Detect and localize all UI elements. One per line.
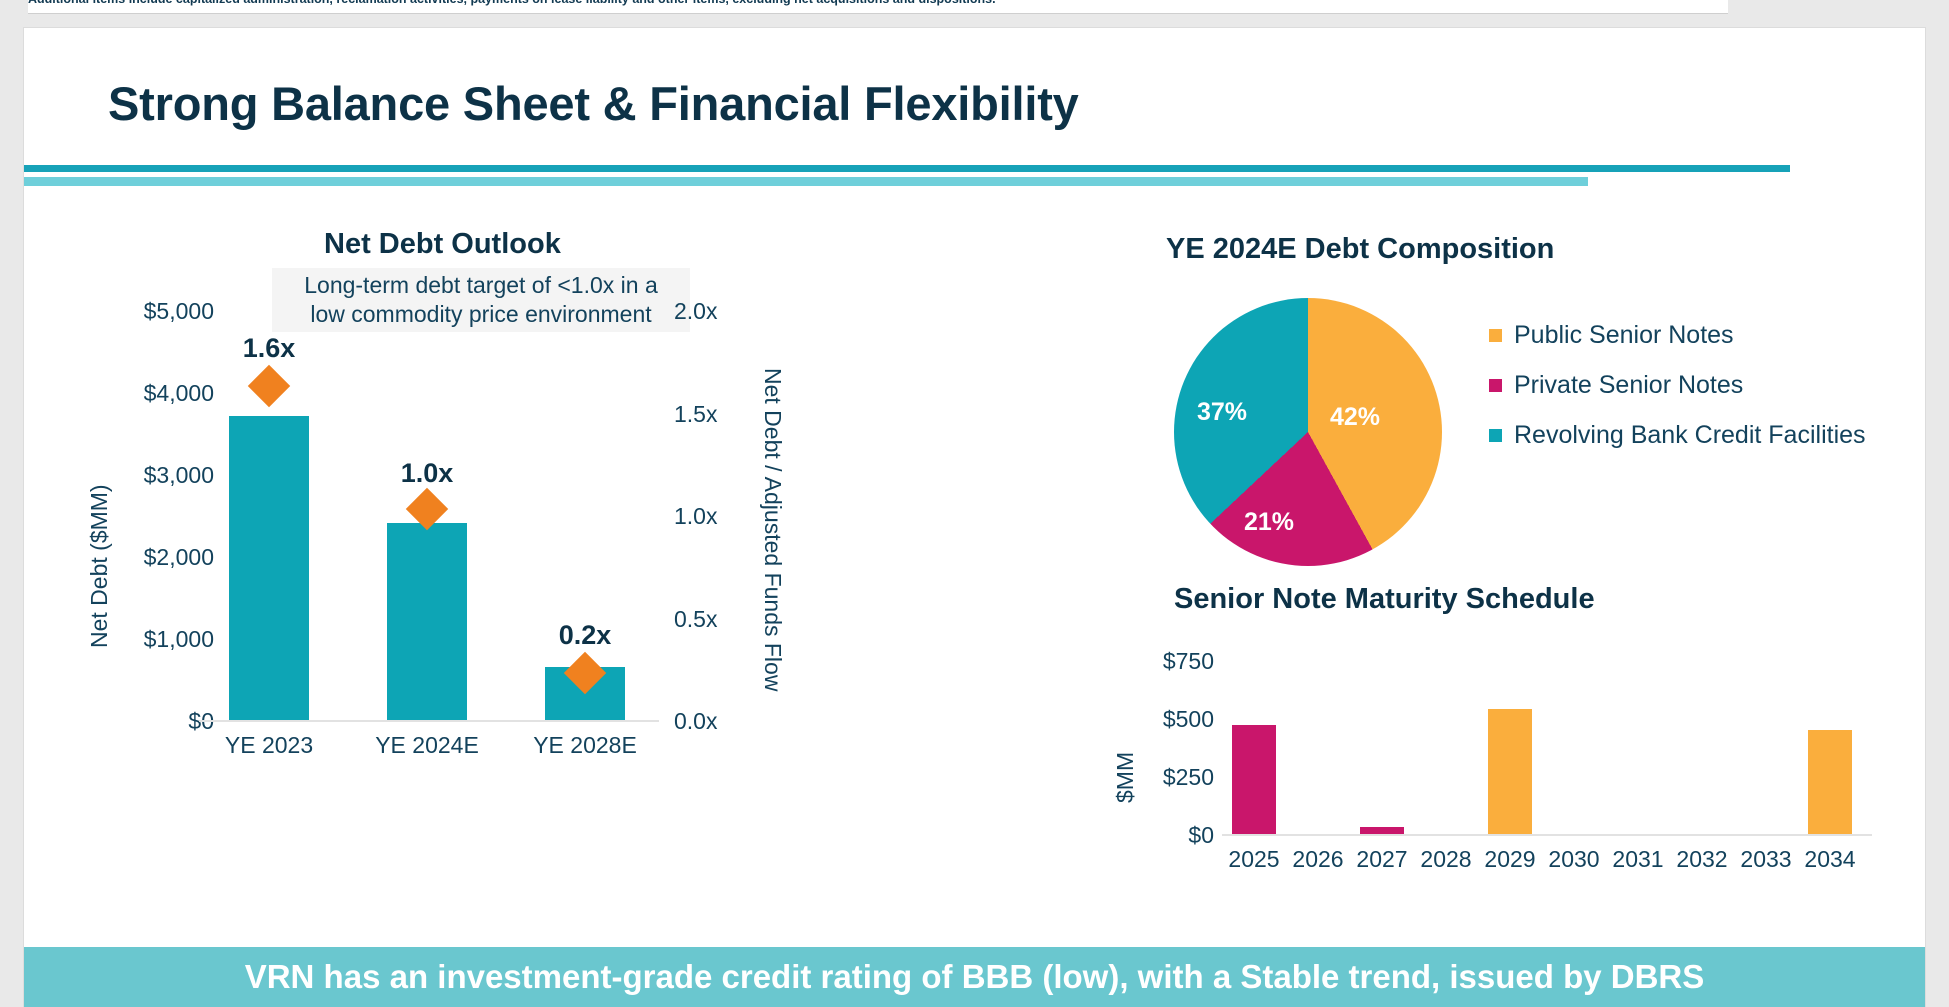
legend-swatch-icon-revolver	[1489, 429, 1502, 442]
maturity-xtick-2029: 2029	[1478, 846, 1542, 873]
maturity-xtick-2031: 2031	[1606, 846, 1670, 873]
maturity-ytick-0: $0	[1124, 822, 1214, 849]
maturity-ytick-500: $500	[1124, 706, 1214, 733]
maturity-bar-2029	[1488, 709, 1532, 834]
net-debt-baseline	[199, 720, 659, 722]
legend-label-private-senior-notes: Private Senior Notes	[1514, 371, 1743, 400]
legend-swatch-icon-private	[1489, 379, 1502, 392]
legend-label-revolving-bank-credit-facilities: Revolving Bank Credit Facilities	[1514, 421, 1866, 450]
net-debt-y2-axis-title: Net Debt / Adjusted Funds Flow	[759, 368, 786, 691]
maturity-bar-2034	[1808, 730, 1852, 834]
credit-rating-banner: VRN has an investment-grade credit ratin…	[24, 947, 1925, 1007]
xtick-ye-2028e: YE 2028E	[525, 732, 645, 759]
senior-note-maturity-chart: Senior Note Maturity Schedule $MM $750 $…	[1134, 588, 1925, 938]
legend-item-revolving-bank-credit-facilities: Revolving Bank Credit Facilities	[1489, 421, 1866, 450]
debt-composition-title: YE 2024E Debt Composition	[1166, 233, 1554, 266]
maturity-xtick-2025: 2025	[1222, 846, 1286, 873]
ytick-3000: $3,000	[114, 462, 214, 489]
page-title: Strong Balance Sheet & Financial Flexibi…	[108, 76, 1079, 131]
bar-ye-2023	[229, 416, 309, 720]
ytick-5000: $5,000	[114, 298, 214, 325]
debt-composition-chart: YE 2024E Debt Composition 42% 21% 37% Pu…	[1134, 243, 1925, 563]
net-debt-chart-title: Net Debt Outlook	[324, 228, 561, 261]
ytick-1000: $1,000	[114, 626, 214, 653]
xtick-ye-2024e: YE 2024E	[367, 732, 487, 759]
y2tick-0-5x: 0.5x	[674, 606, 749, 633]
maturity-xtick-2026: 2026	[1286, 846, 1350, 873]
data-label-ye-2028e: 0.2x	[525, 620, 645, 651]
maturity-ytick-750: $750	[1124, 648, 1214, 675]
maturity-baseline	[1222, 834, 1872, 836]
title-rule-primary	[24, 165, 1790, 172]
maturity-bar-2025	[1232, 725, 1276, 834]
data-label-ye-2024e: 1.0x	[367, 458, 487, 489]
maturity-xtick-2027: 2027	[1350, 846, 1414, 873]
net-debt-outlook-chart: Net Debt Outlook Long-term debt target o…	[64, 238, 884, 938]
y2tick-2-0x: 2.0x	[674, 298, 749, 325]
pie-label-revolving-bank-credit-facilities: 37%	[1197, 398, 1247, 427]
maturity-xtick-2030: 2030	[1542, 846, 1606, 873]
footnote-strip: Additional items include capitalized adm…	[28, 0, 1728, 8]
maturity-chart-title: Senior Note Maturity Schedule	[1174, 583, 1595, 616]
net-debt-y-axis-title: Net Debt ($MM)	[86, 484, 113, 648]
legend-label-public-senior-notes: Public Senior Notes	[1514, 321, 1734, 350]
maturity-xtick-2032: 2032	[1670, 846, 1734, 873]
bar-ye-2024e	[387, 523, 467, 720]
ytick-2000: $2,000	[114, 544, 214, 571]
footnote-text: Additional items include capitalized adm…	[28, 0, 1728, 6]
debt-composition-legend: Public Senior Notes Private Senior Notes…	[1489, 321, 1866, 471]
debt-target-callout: Long-term debt target of <1.0x in alow c…	[272, 268, 690, 332]
y2tick-1-0x: 1.0x	[674, 503, 749, 530]
pie-label-private-senior-notes: 21%	[1244, 508, 1294, 537]
legend-item-public-senior-notes: Public Senior Notes	[1489, 321, 1866, 350]
y2tick-1-5x: 1.5x	[674, 401, 749, 428]
ytick-4000: $4,000	[114, 380, 214, 407]
xtick-ye-2023: YE 2023	[209, 732, 329, 759]
debt-composition-pie	[1174, 298, 1442, 566]
maturity-xtick-2028: 2028	[1414, 846, 1478, 873]
maturity-bar-2027	[1360, 827, 1404, 834]
title-rule-secondary	[24, 177, 1588, 186]
legend-swatch-icon-public	[1489, 329, 1502, 342]
slide-canvas: Strong Balance Sheet & Financial Flexibi…	[24, 28, 1925, 1007]
credit-rating-banner-text: VRN has an investment-grade credit ratin…	[245, 958, 1705, 996]
marker-ye-2023	[248, 365, 290, 407]
pie-label-public-senior-notes: 42%	[1330, 403, 1380, 432]
maturity-ytick-250: $250	[1124, 764, 1214, 791]
y2tick-0-0x: 0.0x	[674, 708, 749, 735]
legend-item-private-senior-notes: Private Senior Notes	[1489, 371, 1866, 400]
data-label-ye-2023: 1.6x	[209, 333, 329, 364]
maturity-xtick-2033: 2033	[1734, 846, 1798, 873]
debt-target-callout-text: Long-term debt target of <1.0x in alow c…	[304, 271, 658, 330]
maturity-xtick-2034: 2034	[1798, 846, 1862, 873]
